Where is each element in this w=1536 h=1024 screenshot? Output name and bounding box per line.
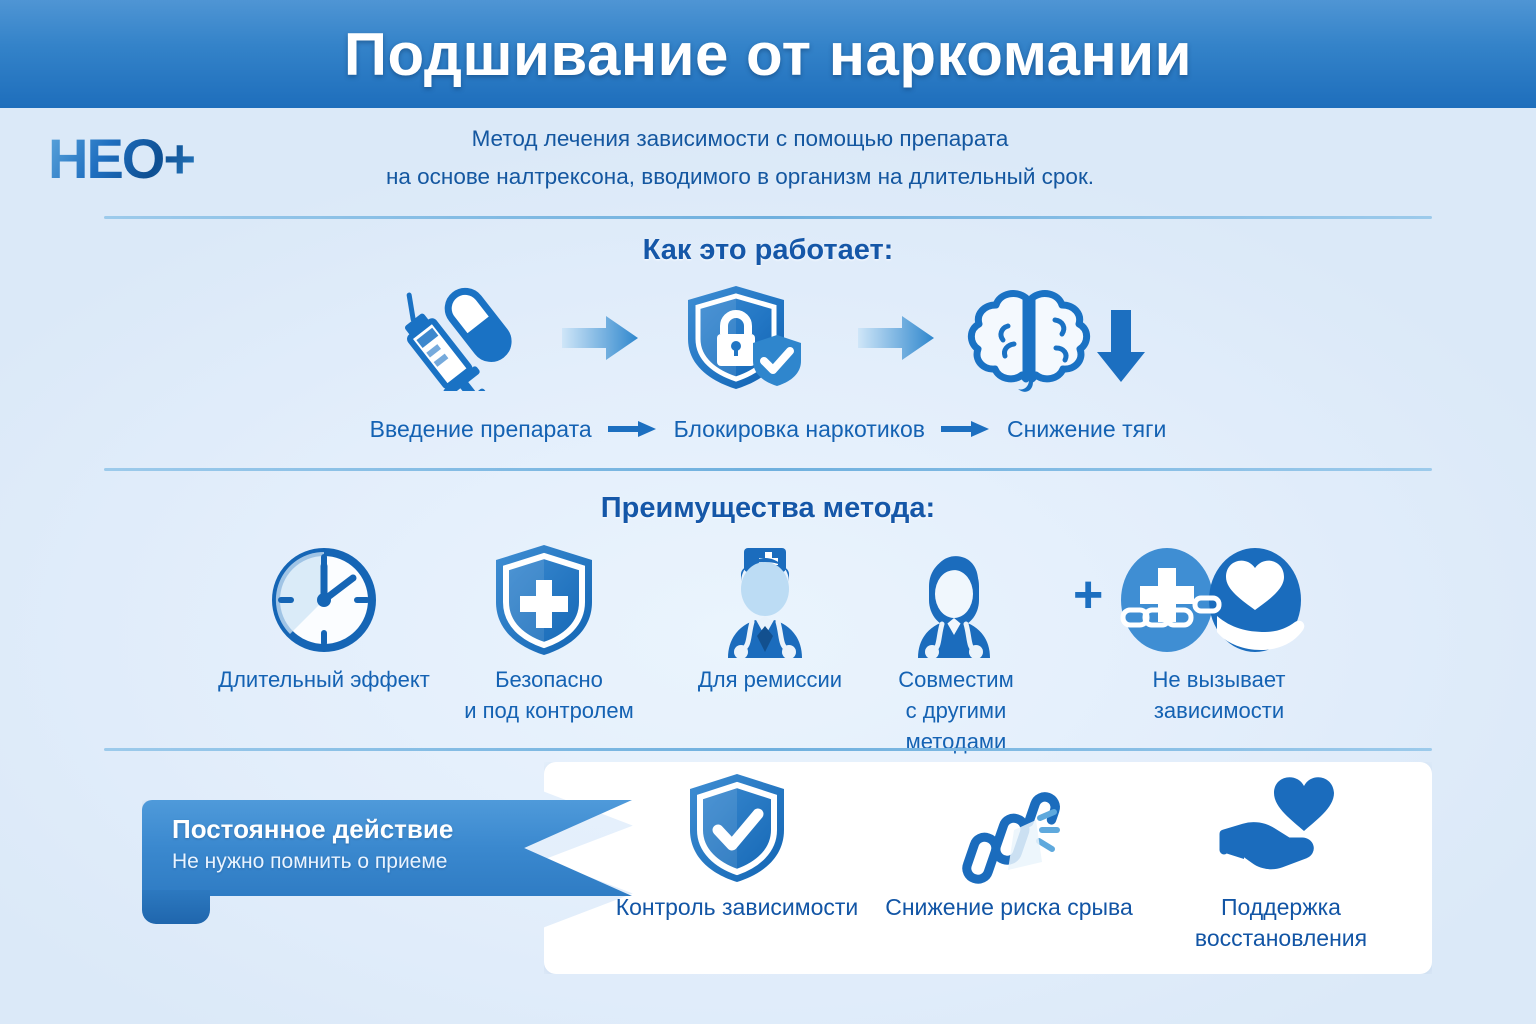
intro-line-1: Метод лечения зависимости с помощью преп… bbox=[290, 120, 1190, 158]
advantage-label-2-line-2: и под контролем bbox=[434, 695, 664, 726]
intro-section: НЕО+ Метод лечения зависимости с помощью… bbox=[0, 108, 1536, 218]
page-header: Подшивание от наркомании bbox=[0, 0, 1536, 108]
divider-2 bbox=[104, 468, 1432, 471]
advantage-label-4-line-3: методами bbox=[866, 726, 1046, 757]
intro-text: Метод лечения зависимости с помощью преп… bbox=[290, 120, 1190, 196]
advantage-label-4-line-1: Совместим bbox=[866, 664, 1046, 695]
plus-symbol: + bbox=[1073, 566, 1103, 624]
bottom-card-3-label: Поддержка восстановления bbox=[1195, 892, 1367, 954]
divider-1 bbox=[104, 216, 1432, 219]
bottom-cards: Контроль зависимости bbox=[596, 772, 1436, 972]
shield-lock-icon bbox=[648, 282, 838, 394]
bottom-card-2-label: Снижение риска срыва bbox=[885, 892, 1133, 923]
page-title: Подшивание от наркомании bbox=[344, 20, 1192, 89]
bottom-card-2: Снижение риска срыва bbox=[884, 772, 1134, 972]
step-label-3: Снижение тяги bbox=[1007, 416, 1166, 443]
shield-check-icon bbox=[685, 772, 789, 884]
advantage-label-3-line-1: Для ремиссии bbox=[670, 664, 870, 695]
how-it-works-icons bbox=[0, 282, 1536, 394]
medic-person-icon bbox=[880, 540, 1028, 660]
shield-cross-icon bbox=[470, 540, 618, 660]
infographic-page: Подшивание от наркомании НЕО+ Метод лече… bbox=[0, 0, 1536, 1024]
doctor-icon bbox=[690, 540, 838, 660]
arrow-right-icon-2 bbox=[852, 282, 940, 394]
step-label-2: Блокировка наркотиков bbox=[674, 416, 925, 443]
advantage-label-5-line-1: Не вызывает bbox=[1094, 664, 1344, 695]
bottom-card-3-line-2: восстановления bbox=[1195, 923, 1367, 954]
arrow-small-icon-1 bbox=[608, 419, 658, 439]
brain-down-arrow-icon bbox=[950, 282, 1160, 394]
clock-icon bbox=[250, 540, 398, 660]
advantage-label-4-line-2: с другими bbox=[866, 695, 1046, 726]
advantage-label-1: Длительный эффект bbox=[184, 664, 464, 695]
divider-3 bbox=[104, 748, 1432, 751]
bottom-card-2-line-1: Снижение риска срыва bbox=[885, 892, 1133, 923]
intro-line-2: на основе налтрексона, вводимого в орган… bbox=[290, 158, 1190, 196]
bottom-card-3: Поддержка восстановления bbox=[1156, 772, 1406, 972]
advantage-label-5: Не вызывает зависимости bbox=[1094, 664, 1344, 726]
ribbon-text: Постоянное действие Не нужно помнить о п… bbox=[172, 812, 592, 878]
arrow-small-icon-2 bbox=[941, 419, 991, 439]
step-label-1: Введение препарата bbox=[370, 416, 592, 443]
bottom-card-1: Контроль зависимости bbox=[612, 772, 862, 972]
broken-chain-icon bbox=[944, 772, 1074, 884]
bottom-card-1-label: Контроль зависимости bbox=[616, 892, 859, 923]
advantage-label-4: Совместим с другими методами bbox=[866, 664, 1046, 757]
how-it-works-title: Как это работает: bbox=[0, 234, 1536, 267]
ribbon-title: Постоянное действие bbox=[172, 812, 592, 846]
advantages-title: Преимущества метода: bbox=[0, 492, 1536, 525]
hand-heart-icon bbox=[1218, 772, 1344, 884]
bottom-card-3-line-1: Поддержка bbox=[1195, 892, 1367, 923]
how-it-works-labels: Введение препарата Блокировка наркотиков… bbox=[0, 408, 1536, 450]
advantages-icons: + bbox=[0, 540, 1536, 660]
advantage-label-3: Для ремиссии bbox=[670, 664, 870, 695]
advantage-label-1-line-1: Длительный эффект bbox=[184, 664, 464, 695]
advantage-label-2-line-1: Безопасно bbox=[434, 664, 664, 695]
arrow-right-icon-1 bbox=[556, 282, 644, 394]
syringe-pill-icon bbox=[368, 282, 558, 394]
ribbon-subtitle: Не нужно помнить о приеме bbox=[172, 846, 592, 878]
advantage-label-5-line-2: зависимости bbox=[1094, 695, 1344, 726]
brand-logo: НЕО+ bbox=[48, 126, 248, 192]
plus-broken-chain-heart-hand-icon: + bbox=[1054, 540, 1314, 660]
advantage-label-2: Безопасно и под контролем bbox=[434, 664, 664, 726]
bottom-card-1-line-1: Контроль зависимости bbox=[616, 892, 859, 923]
ribbon-fold-tail bbox=[142, 890, 210, 924]
